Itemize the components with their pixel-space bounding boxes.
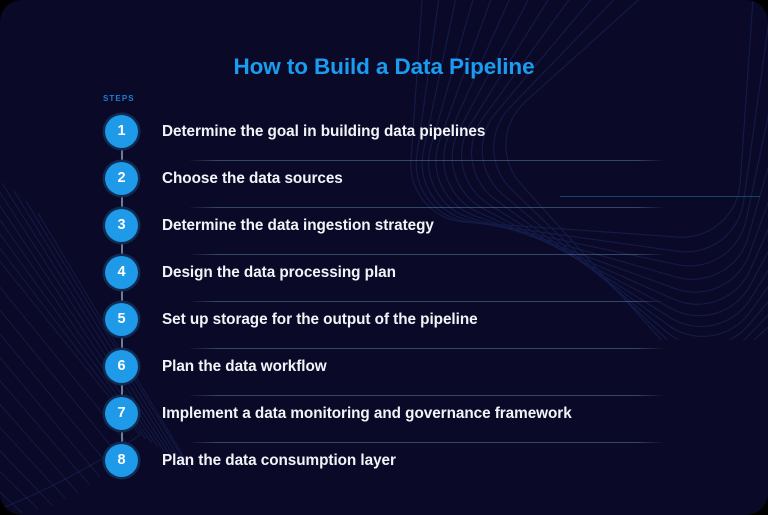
steps-caption: STEPS [103, 94, 135, 103]
step-number-badge: 1 [105, 115, 138, 148]
list-item[interactable]: 1 Determine the goal in building data pi… [0, 113, 768, 160]
row-divider [188, 301, 665, 302]
row-divider [188, 254, 665, 255]
row-divider [188, 207, 665, 208]
row-divider [188, 442, 665, 443]
step-label: Determine the goal in building data pipe… [162, 115, 485, 148]
step-number-badge: 8 [105, 444, 138, 477]
step-label: Plan the data consumption layer [162, 444, 396, 477]
list-item[interactable]: 4 Design the data processing plan [0, 254, 768, 301]
step-label: Design the data processing plan [162, 256, 396, 289]
step-label: Plan the data workflow [162, 350, 327, 383]
step-label: Set up storage for the output of the pip… [162, 303, 478, 336]
row-divider [188, 395, 665, 396]
steps-list: 1 Determine the goal in building data pi… [0, 113, 768, 489]
list-item[interactable]: 2 Choose the data sources [0, 160, 768, 207]
list-item[interactable]: 8 Plan the data consumption layer [0, 442, 768, 489]
step-number-badge: 5 [105, 303, 138, 336]
step-number-badge: 7 [105, 397, 138, 430]
step-number-badge: 3 [105, 209, 138, 242]
step-label: Choose the data sources [162, 162, 343, 195]
row-divider [188, 160, 665, 161]
step-number-badge: 6 [105, 350, 138, 383]
step-number-badge: 2 [105, 162, 138, 195]
list-item[interactable]: 5 Set up storage for the output of the p… [0, 301, 768, 348]
list-item[interactable]: 6 Plan the data workflow [0, 348, 768, 395]
row-divider [188, 348, 665, 349]
step-label: Determine the data ingestion strategy [162, 209, 434, 242]
list-item[interactable]: 7 Implement a data monitoring and govern… [0, 395, 768, 442]
list-item[interactable]: 3 Determine the data ingestion strategy [0, 207, 768, 254]
infographic-card: How to Build a Data Pipeline STEPS 1 Det… [0, 0, 768, 515]
step-label: Implement a data monitoring and governan… [162, 397, 572, 430]
page-title: How to Build a Data Pipeline [0, 54, 768, 80]
step-number-badge: 4 [105, 256, 138, 289]
